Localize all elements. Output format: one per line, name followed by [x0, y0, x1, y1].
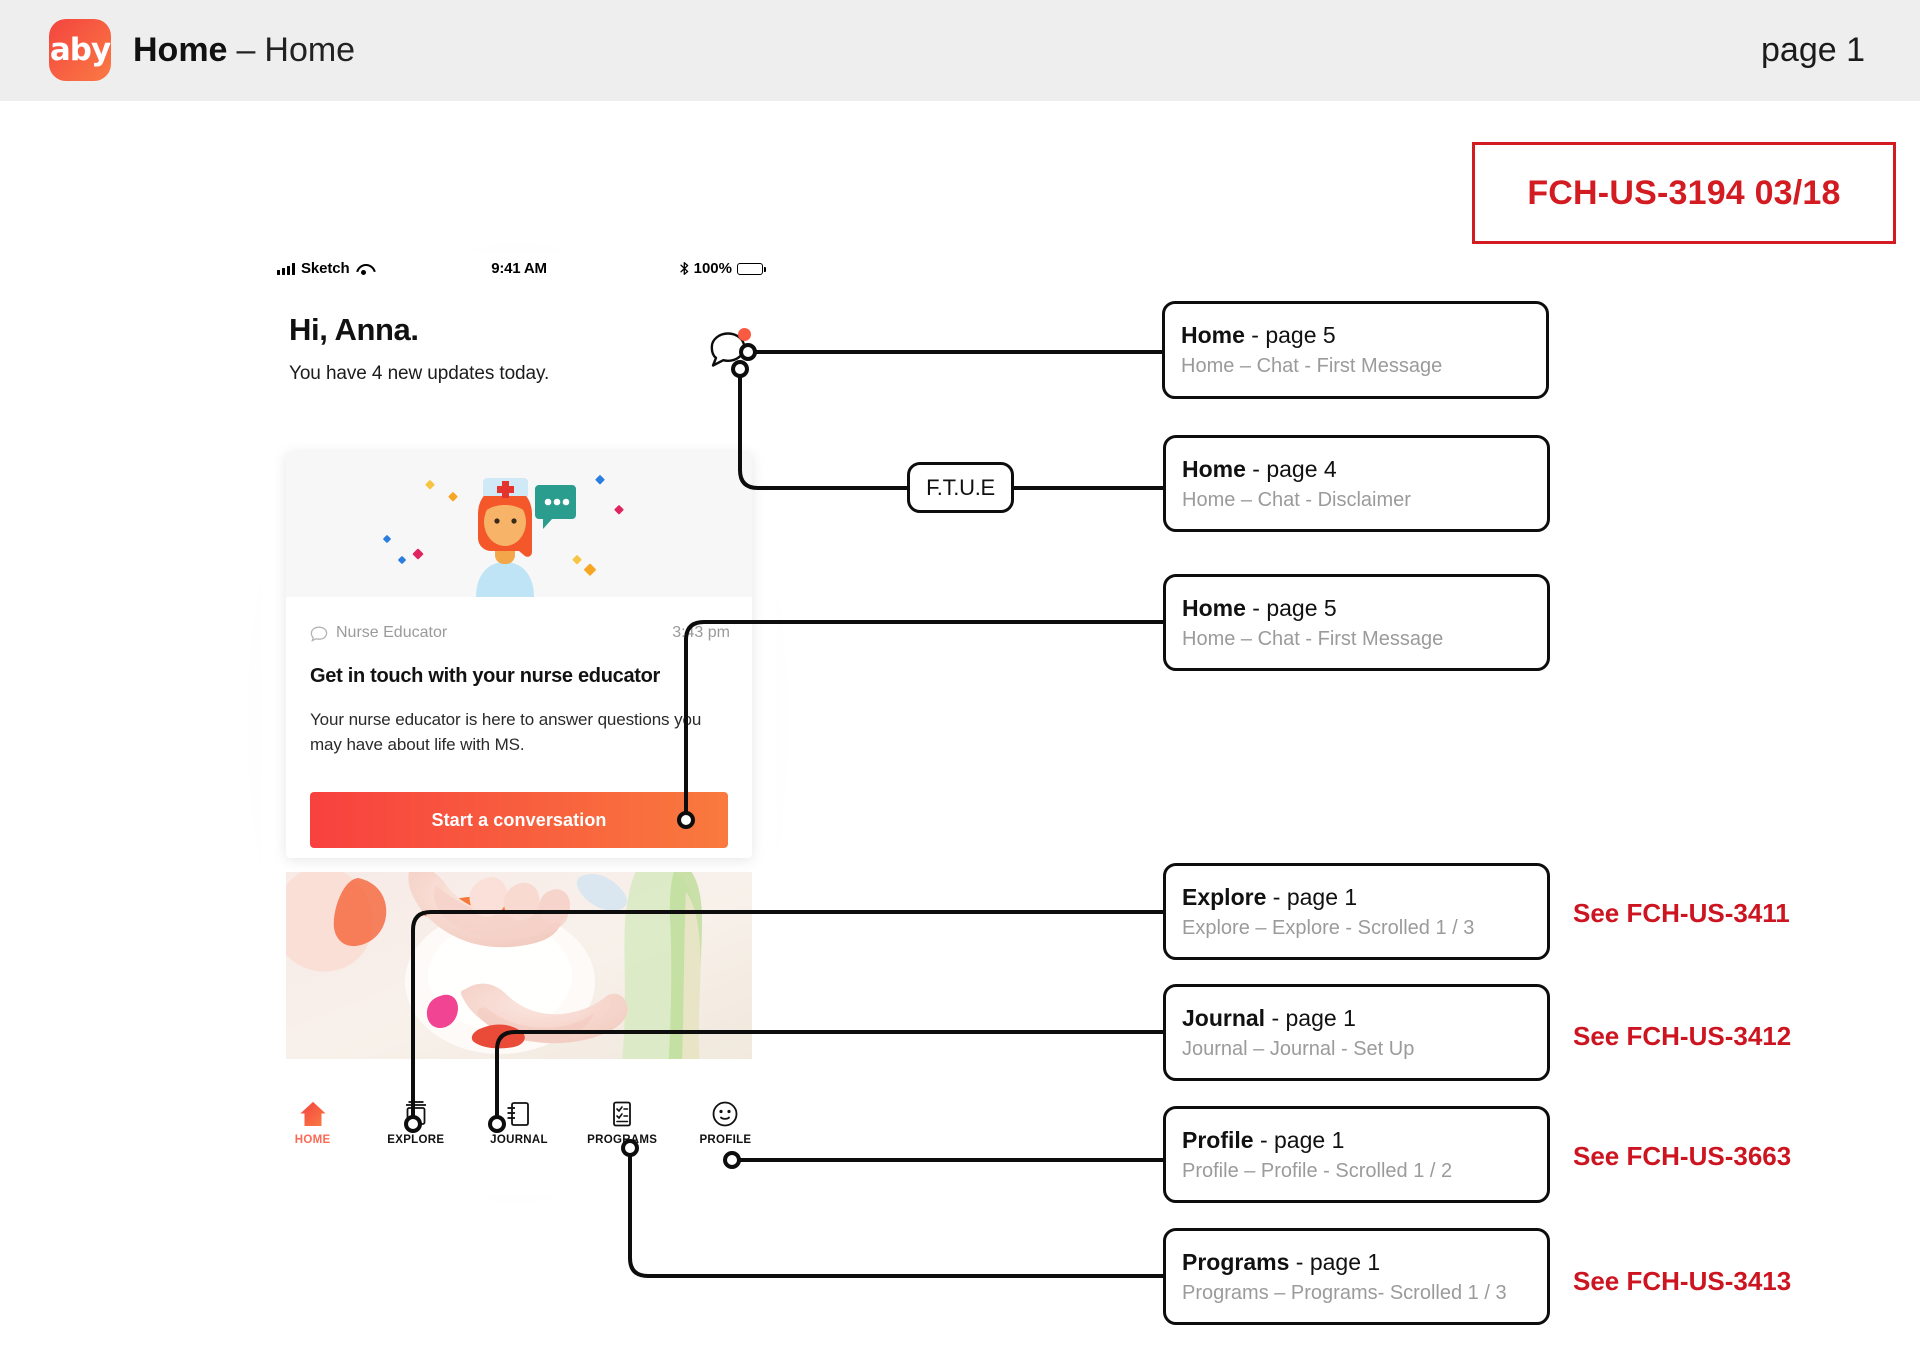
home-indicator-area	[261, 1158, 777, 1196]
flow-box-home-page4[interactable]: Home - page 4 Home – Chat - Disclaimer	[1163, 435, 1550, 532]
reference-code-text: FCH-US-3194 03/18	[1527, 174, 1840, 213]
flow-box-profile[interactable]: Profile - page 1 Profile – Profile - Scr…	[1163, 1106, 1550, 1203]
app-logo-icon: aby	[49, 19, 111, 81]
flow-box-title: Programs - page 1	[1182, 1249, 1380, 1276]
flow-box-programs[interactable]: Programs - page 1 Programs – Programs- S…	[1163, 1228, 1550, 1325]
flow-box-title: Journal - page 1	[1182, 1005, 1356, 1032]
profile-icon	[710, 1097, 740, 1131]
flow-box-title: Home - page 4	[1182, 456, 1337, 483]
tab-explore[interactable]: EXPLORE	[364, 1090, 467, 1146]
tab-profile-label: PROFILE	[699, 1134, 751, 1146]
explore-icon	[401, 1097, 431, 1131]
flow-box-explore[interactable]: Explore - page 1 Explore – Explore - Scr…	[1163, 863, 1550, 960]
tab-profile[interactable]: PROFILE	[674, 1090, 777, 1146]
message-bubble-icon	[310, 626, 328, 642]
app-header-bar: aby Home – Home page 1	[0, 0, 1920, 101]
start-conversation-button[interactable]: Start a conversation	[310, 792, 728, 848]
battery-full-icon	[737, 263, 763, 275]
page-title-dash: –	[236, 31, 255, 70]
flow-box-subtitle: Home – Chat - First Message	[1181, 355, 1442, 378]
flow-box-title: Profile - page 1	[1182, 1127, 1344, 1154]
flow-box-subtitle: Home – Chat - First Message	[1182, 628, 1443, 651]
page-title-light: Home	[264, 31, 355, 70]
see-reference-3663: See FCH-US-3663	[1573, 1141, 1791, 1172]
tab-journal-label: JOURNAL	[490, 1134, 548, 1146]
flow-box-subtitle: Explore – Explore - Scrolled 1 / 3	[1182, 917, 1474, 940]
greeting-subheading: You have 4 new updates today.	[289, 363, 549, 385]
tab-journal[interactable]: JOURNAL	[467, 1090, 570, 1146]
see-reference-3411: See FCH-US-3411	[1573, 898, 1790, 929]
battery-percent-label: 100%	[694, 260, 732, 277]
tab-programs-label: PROGRAMS	[587, 1134, 657, 1146]
ftue-label: F.T.U.E	[926, 475, 995, 501]
flow-box-journal[interactable]: Journal - page 1 Journal – Journal - Set…	[1163, 984, 1550, 1081]
card-timestamp: 3:43 pm	[672, 624, 730, 642]
bottom-tab-bar[interactable]: HOME EXPLORE JOURNAL PROGRAMS PROFILE	[261, 1090, 777, 1158]
ftue-node: F.T.U.E	[907, 462, 1014, 513]
programs-icon	[607, 1097, 637, 1131]
page-title-bold: Home	[133, 31, 227, 70]
flow-box-home-page5-b[interactable]: Home - page 5 Home – Chat - First Messag…	[1163, 574, 1550, 671]
phone-mockup: Sketch 9:41 AM 100% Hi, Anna. You have 4…	[261, 252, 777, 1196]
page-title: Home – Home	[133, 24, 355, 76]
greeting-heading: Hi, Anna.	[289, 312, 419, 348]
hands-preparing-food-photo[interactable]	[286, 872, 752, 1059]
reference-code-box: FCH-US-3194 03/18	[1472, 142, 1896, 244]
phone-status-bar: Sketch 9:41 AM 100%	[261, 252, 777, 290]
flow-box-title: Home - page 5	[1182, 595, 1337, 622]
status-bar-right: 100%	[680, 260, 763, 277]
bluetooth-icon	[680, 262, 689, 275]
flow-box-subtitle: Profile – Profile - Scrolled 1 / 2	[1182, 1160, 1452, 1183]
home-icon	[298, 1097, 328, 1131]
unread-badge	[738, 328, 751, 341]
tab-explore-label: EXPLORE	[387, 1134, 444, 1146]
card-title: Get in touch with your nurse educator	[310, 665, 740, 688]
tab-home-label: HOME	[295, 1134, 331, 1146]
card-body-text: Your nurse educator is here to answer qu…	[310, 707, 710, 757]
tab-programs[interactable]: PROGRAMS	[571, 1090, 674, 1146]
logo-wordmark: aby	[49, 19, 111, 81]
see-reference-3413: See FCH-US-3413	[1573, 1266, 1791, 1297]
card-source-label: Nurse Educator	[336, 624, 447, 642]
flow-box-title: Explore - page 1	[1182, 884, 1357, 911]
flow-box-home-page5-a[interactable]: Home - page 5 Home – Chat - First Messag…	[1162, 301, 1549, 399]
nurse-illustration	[286, 452, 752, 597]
flow-box-subtitle: Home – Chat - Disclaimer	[1182, 489, 1411, 512]
journal-icon	[504, 1097, 534, 1131]
flow-box-title: Home - page 5	[1181, 322, 1336, 349]
nurse-educator-card[interactable]: Nurse Educator 3:43 pm Get in touch with…	[286, 452, 752, 858]
flow-box-subtitle: Programs – Programs- Scrolled 1 / 3	[1182, 1282, 1507, 1305]
page-number-label: page 1	[1761, 24, 1865, 76]
see-reference-3412: See FCH-US-3412	[1573, 1021, 1791, 1052]
flow-box-subtitle: Journal – Journal - Set Up	[1182, 1038, 1414, 1061]
card-meta-row: Nurse Educator 3:43 pm	[310, 624, 730, 646]
tab-home[interactable]: HOME	[261, 1090, 364, 1146]
